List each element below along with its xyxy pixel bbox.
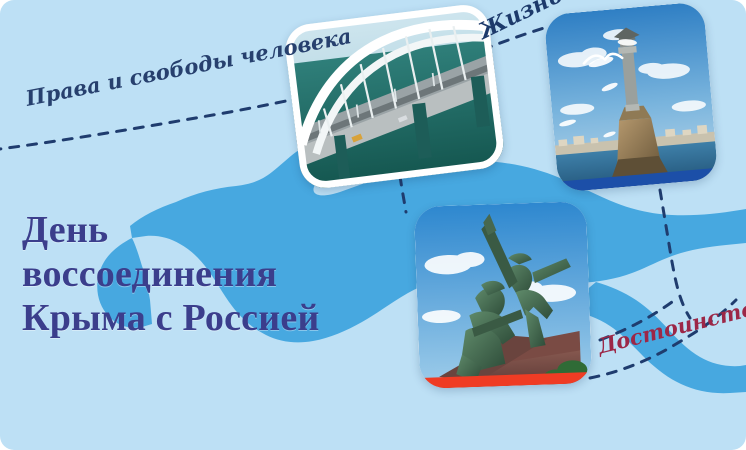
soldier-and-sailor-monument-photo[interactable] [414,201,592,389]
sunken-ships-monument-artwork [544,1,719,192]
soldier-and-sailor-artwork [414,201,592,389]
monument-to-sunken-ships-photo[interactable] [544,1,719,192]
crimean-bridge-photo[interactable] [283,2,507,191]
crimean-bridge-artwork [283,2,507,191]
poster-crimea-reunification-day: Права и свободы человека Жизнь Достоинст… [0,0,746,450]
